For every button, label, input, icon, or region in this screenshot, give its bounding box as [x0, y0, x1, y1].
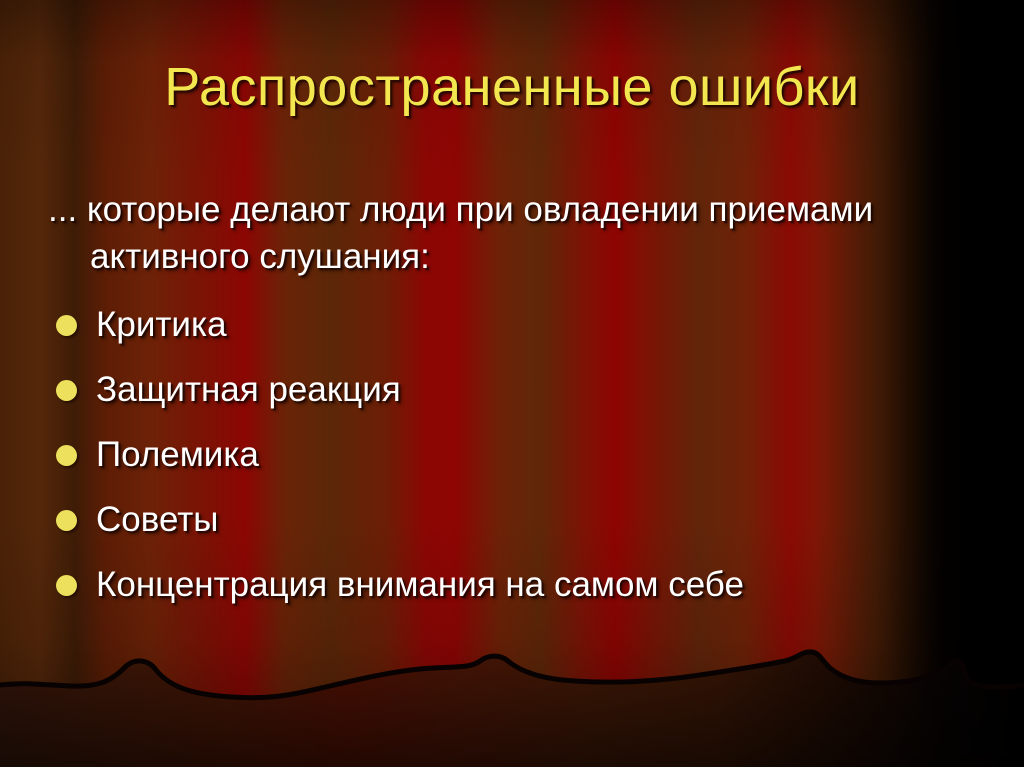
list-item-label: Защитная реакция [96, 370, 401, 409]
slide-body: ... которые делают люди при овладении пр… [48, 186, 978, 621]
list-item: Защитная реакция [48, 361, 978, 426]
list-item-label: Советы [96, 500, 218, 539]
intro-paragraph: ... которые делают люди при овладении пр… [48, 186, 978, 280]
list-item: Советы [48, 491, 978, 556]
list-item-label: Концентрация внимания на самом себе [96, 565, 744, 604]
list-item-label: Критика [96, 305, 227, 344]
bullet-dot-icon [56, 445, 77, 466]
bullet-dot-icon [56, 315, 77, 336]
bullet-dot-icon [56, 575, 77, 596]
bullet-dot-icon [56, 510, 77, 531]
bullet-dot-icon [56, 380, 77, 401]
list-item-label: Полемика [96, 435, 259, 474]
list-item: Концентрация внимания на самом себе [48, 556, 978, 621]
bullet-list: Критика Защитная реакция Полемика Советы… [48, 296, 978, 621]
presentation-slide: Распространенные ошибки ... которые дела… [0, 0, 1024, 767]
slide-title: Распространенные ошибки [0, 56, 1024, 118]
list-item: Критика [48, 296, 978, 361]
list-item: Полемика [48, 426, 978, 491]
